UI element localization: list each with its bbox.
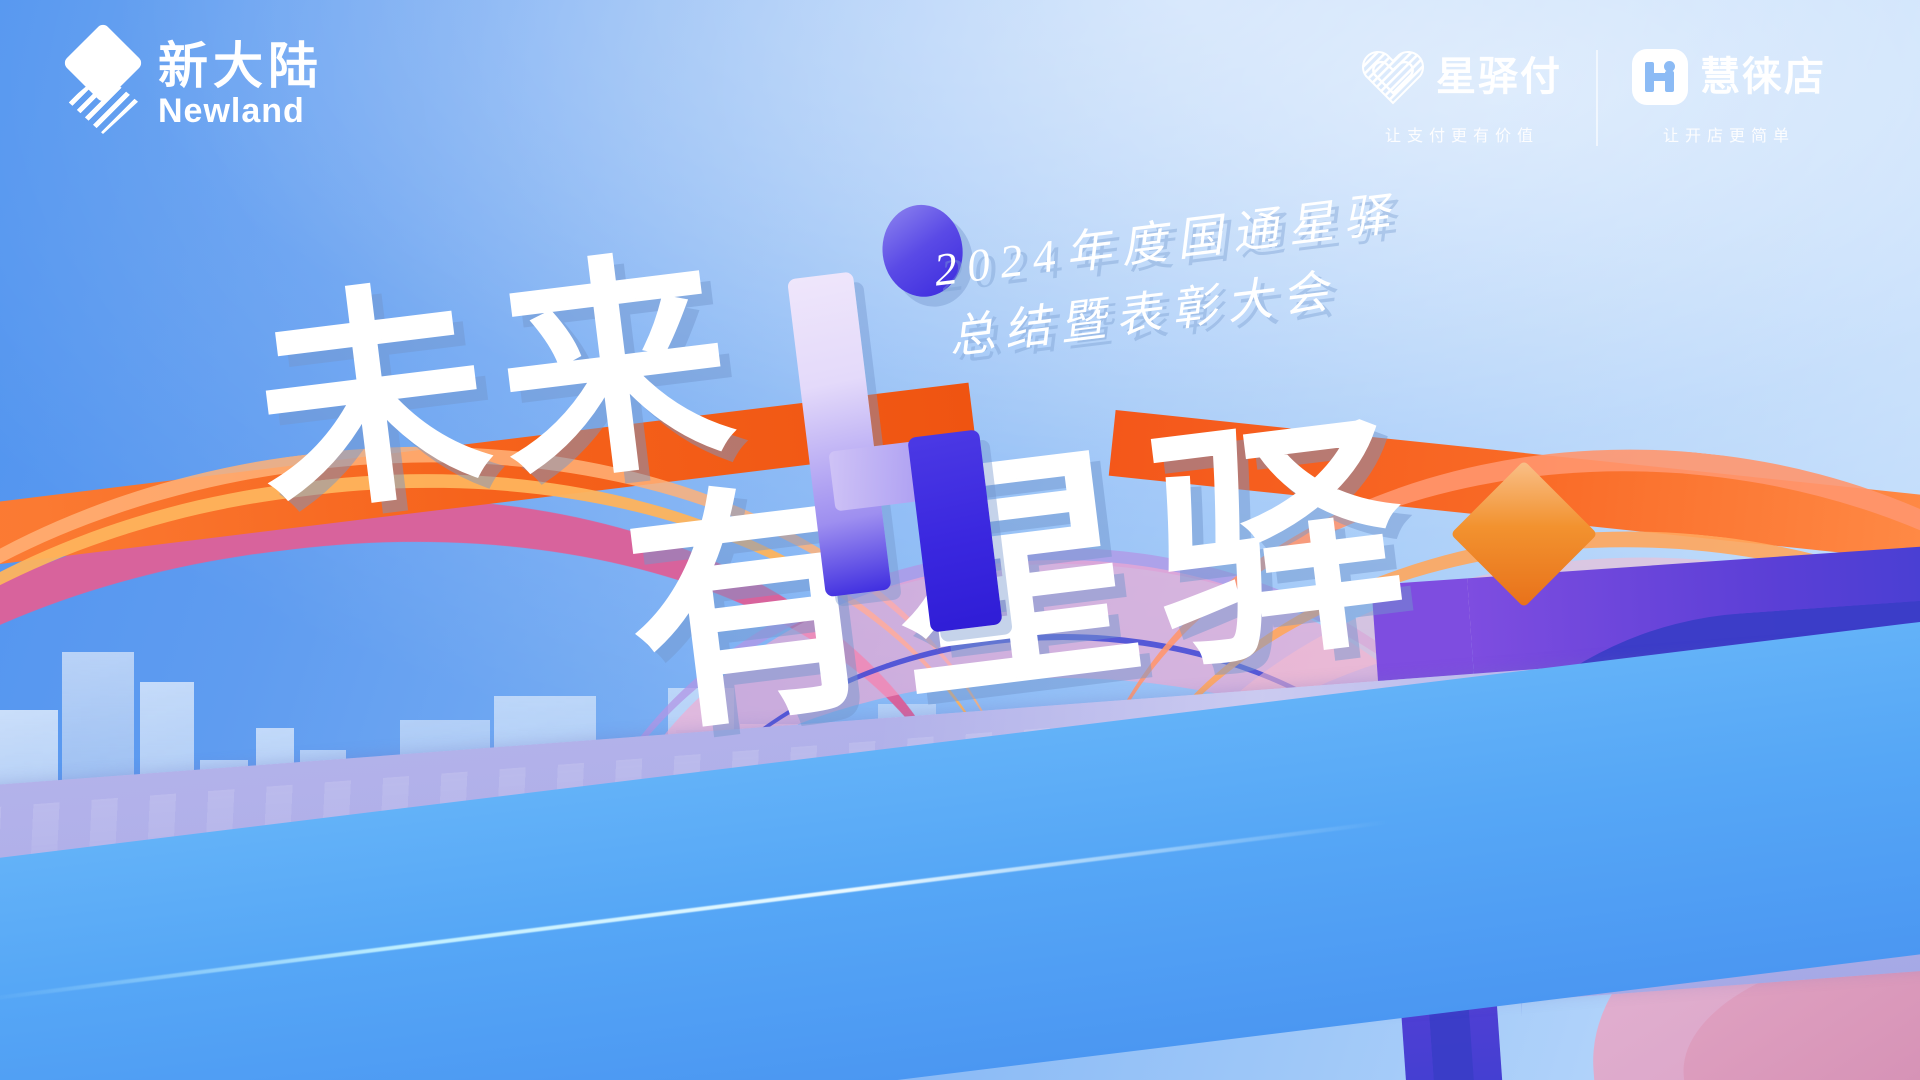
- hi-dot: [1664, 61, 1675, 72]
- partner-huilaidian: 慧徕店 让开店更简单: [1598, 46, 1860, 146]
- partner-xingyifu-row: 星驿付: [1362, 46, 1562, 108]
- brand-name-en: Newland: [158, 94, 323, 128]
- partner-tagline-xingyifu: 让支付更有价值: [1385, 122, 1539, 146]
- newland-logo-icon: [62, 32, 144, 136]
- partner-logos: 星驿付 让支付更有价值 慧徕店 让开店更简单: [1328, 46, 1860, 146]
- partner-tagline-huilaidian: 让开店更简单: [1663, 122, 1795, 146]
- partner-huilaidian-row: 慧徕店: [1632, 46, 1826, 108]
- hi-right-stroke: [1665, 71, 1674, 92]
- poster-canvas: 未来 有星驿 2024年度国通星驿 总结暨表彰大会 新大陆 Newland: [0, 0, 1920, 1080]
- logo-stripe-shape: [68, 72, 138, 134]
- brand-name-cn: 新大陆: [158, 40, 323, 93]
- newland-brand-text: 新大陆 Newland: [158, 40, 323, 129]
- partner-name-huilaidian: 慧徕店: [1700, 57, 1826, 97]
- partner-xingyifu: 星驿付 让支付更有价值: [1328, 46, 1596, 146]
- partner-name-xingyifu: 星驿付: [1436, 57, 1562, 97]
- poster-header: 新大陆 Newland: [0, 0, 1920, 170]
- heart-stripe-icon: [1362, 49, 1424, 105]
- hi-badge-icon: [1632, 49, 1688, 105]
- newland-brand: 新大陆 Newland: [62, 32, 323, 136]
